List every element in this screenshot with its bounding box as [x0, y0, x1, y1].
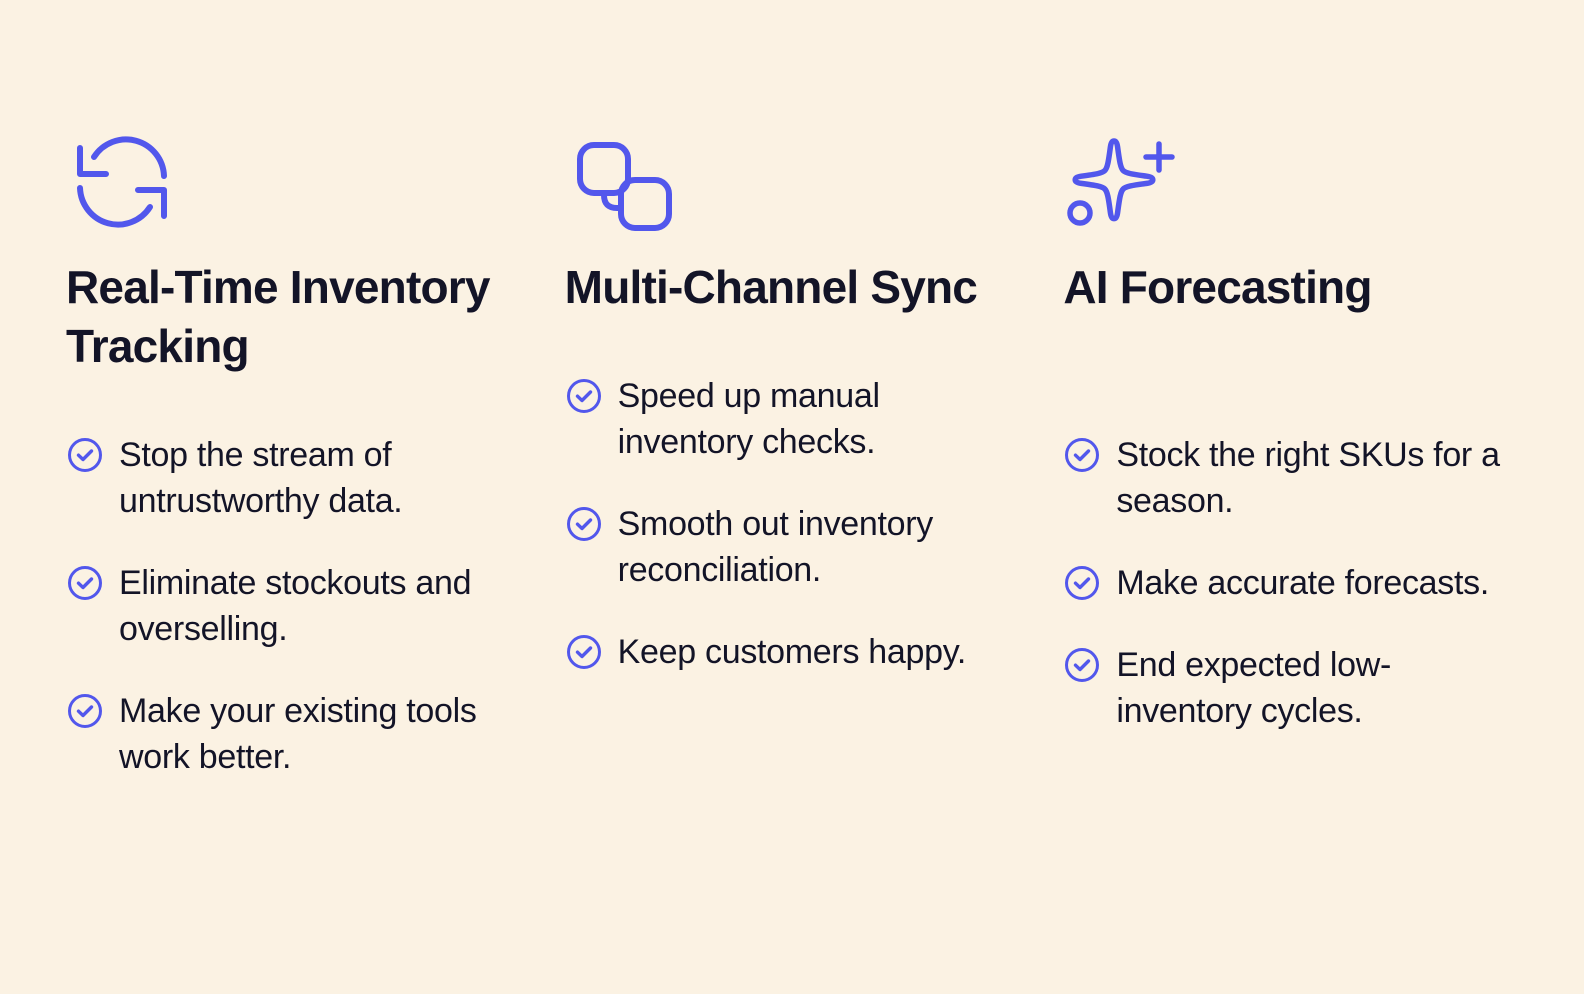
benefit-text: Stock the right SKUs for a season.: [1116, 432, 1518, 524]
benefit-text: Make accurate forecasts.: [1116, 560, 1489, 606]
benefit-item: Stop the stream of untrustworthy data.: [66, 432, 527, 524]
benefit-list: Stop the stream of untrustworthy data. E…: [66, 376, 527, 780]
benefit-item: Eliminate stockouts and overselling.: [66, 560, 527, 652]
feature-column-multi-channel-sync: Multi-Channel Sync Speed up manual inven…: [565, 128, 1026, 675]
sparkle-ai-icon: [1063, 128, 1524, 236]
check-circle-icon: [66, 564, 104, 602]
benefit-item: Speed up manual inventory checks.: [565, 373, 1026, 465]
columns-container: Real-Time Inventory Tracking Stop the st…: [66, 128, 1524, 780]
check-circle-icon: [565, 633, 603, 671]
benefit-text: Stop the stream of untrustworthy data.: [119, 432, 521, 524]
check-circle-icon: [1063, 646, 1101, 684]
benefit-item: Smooth out inventory reconciliation.: [565, 501, 1026, 593]
benefit-item: Keep customers happy.: [565, 629, 1026, 675]
benefit-item: Make accurate forecasts.: [1063, 560, 1524, 606]
feature-column-real-time-inventory-tracking: Real-Time Inventory Tracking Stop the st…: [66, 128, 527, 780]
column-title: Real-Time Inventory Tracking: [66, 236, 496, 376]
benefit-text: Eliminate stockouts and overselling.: [119, 560, 521, 652]
benefit-item: End expected low-inventory cycles.: [1063, 642, 1524, 734]
benefit-text: Smooth out inventory reconciliation.: [618, 501, 1020, 593]
refresh-sync-icon: [66, 128, 527, 236]
benefit-text: Keep customers happy.: [618, 629, 966, 675]
benefit-list: Speed up manual inventory checks. Smooth…: [565, 317, 1026, 675]
connected-nodes-icon: [565, 128, 1026, 236]
column-title: AI Forecasting: [1063, 236, 1493, 317]
benefit-text: Speed up manual inventory checks.: [618, 373, 1020, 465]
check-circle-icon: [565, 505, 603, 543]
benefit-text: Make your existing tools work better.: [119, 688, 521, 780]
check-circle-icon: [66, 436, 104, 474]
feature-columns-board: Real-Time Inventory Tracking Stop the st…: [0, 0, 1584, 994]
feature-column-ai-forecasting: AI Forecasting Stock the right SKUs for …: [1063, 128, 1524, 734]
check-circle-icon: [1063, 564, 1101, 602]
check-circle-icon: [1063, 436, 1101, 474]
check-circle-icon: [66, 692, 104, 730]
benefit-item: Make your existing tools work better.: [66, 688, 527, 780]
benefit-list: Stock the right SKUs for a season. Make …: [1063, 317, 1524, 734]
benefit-item: Stock the right SKUs for a season.: [1063, 432, 1524, 524]
check-circle-icon: [565, 377, 603, 415]
column-title: Multi-Channel Sync: [565, 236, 995, 317]
benefit-text: End expected low-inventory cycles.: [1116, 642, 1518, 734]
